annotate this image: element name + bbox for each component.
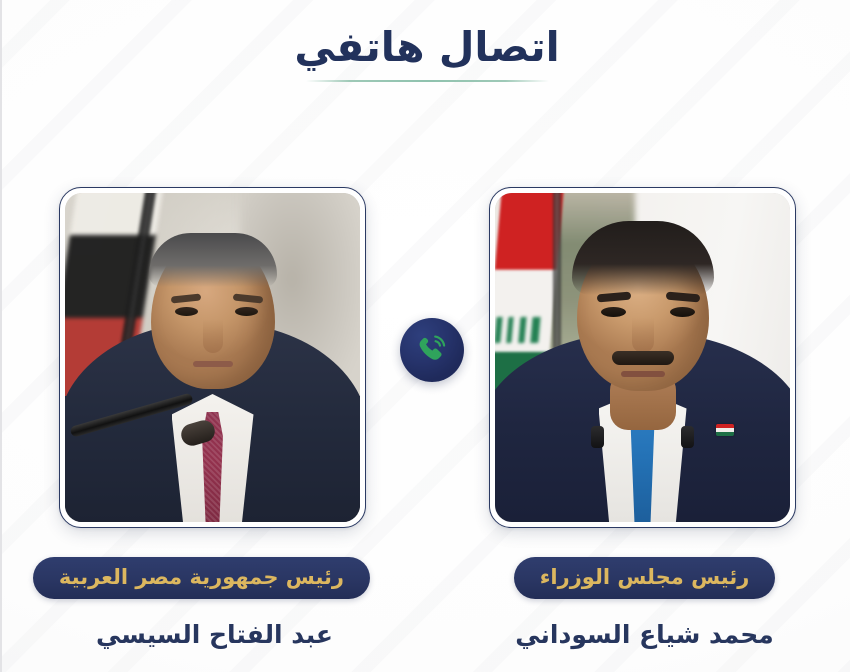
page-title: اتصال هاتفي (2, 22, 850, 73)
eye-left-right (601, 307, 626, 317)
phone-call-poster: اتصال هاتفي (0, 0, 850, 672)
nose-right (632, 317, 654, 353)
eye-right-left (235, 307, 258, 316)
nose-left (203, 319, 223, 353)
lapel-microphone-left-right (591, 426, 604, 448)
person-block-right: رئيس مجلس الوزراء محمد شياع السوداني (489, 557, 800, 652)
person-name-left: عبد الفتاح السيسي (59, 619, 370, 652)
role-badge-left: رئيس جمهورية مصر العربية (33, 557, 370, 599)
iraq-flag-script (495, 317, 541, 343)
photo-frame-right (489, 187, 796, 528)
mouth-right (621, 371, 665, 377)
role-badge-right: رئيس مجلس الوزراء (514, 557, 776, 599)
mustache-right (612, 351, 674, 365)
phone-call-icon (412, 330, 452, 370)
mouth-left (193, 361, 233, 367)
phone-call-badge (400, 318, 464, 382)
title-block: اتصال هاتفي (2, 22, 850, 82)
iraq-lapel-pin-icon (716, 424, 734, 436)
eye-left-left (175, 307, 198, 316)
person-block-left: رئيس جمهورية مصر العربية عبد الفتاح السي… (59, 557, 370, 652)
photo-frame-left (59, 187, 366, 528)
portrait-photo-sisi (65, 193, 360, 522)
title-underline-rule (306, 80, 549, 82)
hair-left (149, 233, 277, 287)
portrait-photo-sudani (495, 193, 790, 522)
lapel-microphone-right-right (681, 426, 694, 448)
eye-right-right (670, 307, 695, 317)
person-name-right: محمد شياع السوداني (489, 619, 800, 652)
